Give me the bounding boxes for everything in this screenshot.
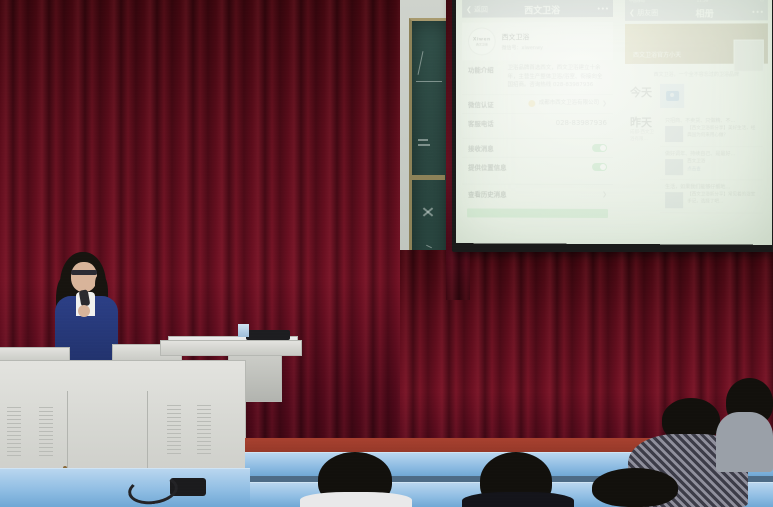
day-title-today: 今天 (630, 84, 654, 100)
location-info-label: 提供位置信息 (468, 162, 507, 172)
album-title: 相册 (696, 6, 714, 19)
function-intro-row: 功能介绍 卫浴品牌首选西文，西文卫浴建立十余年，主营生产整体卫浴/浴室、衔接向全… (462, 60, 613, 94)
eyeglasses (71, 270, 97, 275)
avatar-thumbnail[interactable] (734, 39, 764, 71)
audience-shoulders-1 (300, 492, 412, 507)
toggle-row-location[interactable]: 提供位置信息 (462, 157, 613, 176)
account-logo: Xiwen 西文卫浴 (468, 27, 496, 55)
back-button-moments[interactable]: ❮ 朋友圈 (629, 8, 658, 18)
service-phone-label: 客服电话 (468, 118, 494, 128)
projector-screen: 中国移动 下午4:38 ▭ ❮ 返回 西文卫浴 ••• Xiwen 西文卫浴 西… (456, 0, 772, 245)
receive-messages-label: 接收消息 (468, 143, 494, 153)
laptop (246, 330, 290, 340)
post-text: 【西文卫浴新分享】美好生活，经典国为何来用心做？ (687, 126, 758, 142)
audience-shoulders-4 (716, 412, 773, 472)
hand (78, 305, 90, 317)
bench-row-left (0, 468, 250, 507)
post-title: 只招商、不卖货、只做精、不... (665, 117, 758, 124)
chevron-right-icon-history: ❯ (602, 191, 607, 198)
right-nav-bar: ❮ 朋友圈 相册 ••• (625, 4, 768, 21)
location-info-toggle[interactable] (592, 163, 607, 171)
wechat-verification-row[interactable]: 微信认证 成都市西文卫浴有限公司 ❯ (462, 94, 613, 113)
page-title: 西文卫浴 (524, 3, 560, 16)
post-thumbnail (665, 159, 683, 175)
slide-left-phone: 中国移动 下午4:38 ▭ ❮ 返回 西文卫浴 ••• Xiwen 西文卫浴 西… (462, 0, 613, 244)
service-phone-value: 028-83987936 (556, 118, 607, 129)
moments-section-today: 今天 (625, 78, 768, 108)
more-icon-right[interactable]: ••• (751, 8, 764, 16)
wxid-value: xiwenwy (521, 45, 543, 51)
back-button[interactable]: ❮ 返回 (466, 5, 488, 15)
logo-sub-text: 西文卫浴 (476, 42, 488, 46)
list-item[interactable]: 做好调年、持续自己、是最好... 西文卫浴 点击查 (660, 147, 763, 180)
post-text: 【西文卫浴新分享】常见着的浴室手记，选择了吧... (687, 192, 758, 208)
verification-label: 微信认证 (468, 99, 494, 109)
post-link[interactable]: 点击查 (687, 166, 705, 172)
toggle-row-receive-messages[interactable]: 接收消息 (462, 138, 613, 157)
lecture-hall-photo: 中国移动 下午4:38 ▭ ❮ 返回 西文卫浴 ••• Xiwen 西文卫浴 西… (0, 0, 773, 507)
moments-section-yesterday: 昨天 成都·西文卫浴有限... 只招商、不卖货、只做精、不... 【西文卫浴新分… (625, 108, 768, 214)
post-text: 西文卫浴 (687, 159, 705, 166)
audience-shoulders-2 (462, 492, 574, 507)
left-nav-bar: ❮ 返回 西文卫浴 ••• (462, 1, 613, 18)
chalkboard-divider (409, 175, 445, 180)
service-phone-row[interactable]: 客服电话 028-83987936 (462, 113, 613, 133)
primary-action-button[interactable] (467, 209, 608, 219)
status-time-right: 11:38 (697, 0, 709, 3)
more-icon[interactable]: ••• (597, 5, 609, 13)
list-item[interactable]: 只招商、不卖货、只做精、不... 【西文卫浴新分享】美好生活，经典国为何来用心做… (660, 114, 763, 147)
post-thumbnail (665, 126, 683, 142)
account-profile-card: Xiwen 西文卫浴 西文卫浴 微信号：xiwenwy (462, 22, 613, 60)
status-carrier-right: 中国移动 (629, 0, 645, 3)
account-name: 西文卫浴 (502, 32, 543, 42)
history-messages-row[interactable]: 查看历史消息 ❯ (462, 184, 613, 203)
day-title-yesterday: 昨天 (630, 114, 654, 130)
lectern-shelf (160, 340, 302, 356)
slide-right-phone: 中国移动 11:38 ▭ ❮ 朋友圈 相册 ••• 西文卫浴官方小天 西文卫浴，… (625, 0, 768, 243)
post-title: 做好调年、持续自己、是最好... (665, 150, 758, 157)
camera-icon (666, 91, 679, 101)
list-item[interactable]: 生活，如果我们能够仔细地... 【西文卫浴新分享】常见着的浴室手记，选择了吧..… (660, 180, 763, 213)
status-battery-icon-right: ▭ (760, 0, 764, 2)
album-cover-banner[interactable]: 西文卫浴官方小天 (625, 23, 768, 64)
verified-badge-icon (529, 100, 536, 107)
back-label-moments: 朋友圈 (637, 9, 658, 17)
post-title: 生活，如果我们能够仔细地... (665, 183, 758, 190)
audience-head-5 (592, 468, 678, 507)
post-thumbnail (665, 192, 683, 208)
paper-cup (238, 324, 249, 337)
post-thumbnail-today[interactable] (660, 84, 684, 108)
function-intro-label: 功能介绍 (468, 64, 498, 89)
history-messages-label: 查看历史消息 (468, 189, 507, 199)
verification-value: 成都市西文卫浴有限公司 (539, 99, 599, 108)
back-label: 返回 (474, 6, 488, 14)
day-subtitle-yesterday: 成都·西文卫浴有限... (630, 130, 654, 144)
receive-messages-toggle[interactable] (592, 144, 607, 152)
wxid-label: 微信号： (502, 45, 522, 51)
chevron-right-icon: ❯ (602, 100, 607, 107)
function-intro-text: 卫浴品牌首选西文，西文卫浴建立十余年，主营生产整体卫浴/浴室、衔接向全国招商。咨… (508, 64, 607, 90)
banner-text: 西文卫浴官方小天 (633, 50, 681, 59)
